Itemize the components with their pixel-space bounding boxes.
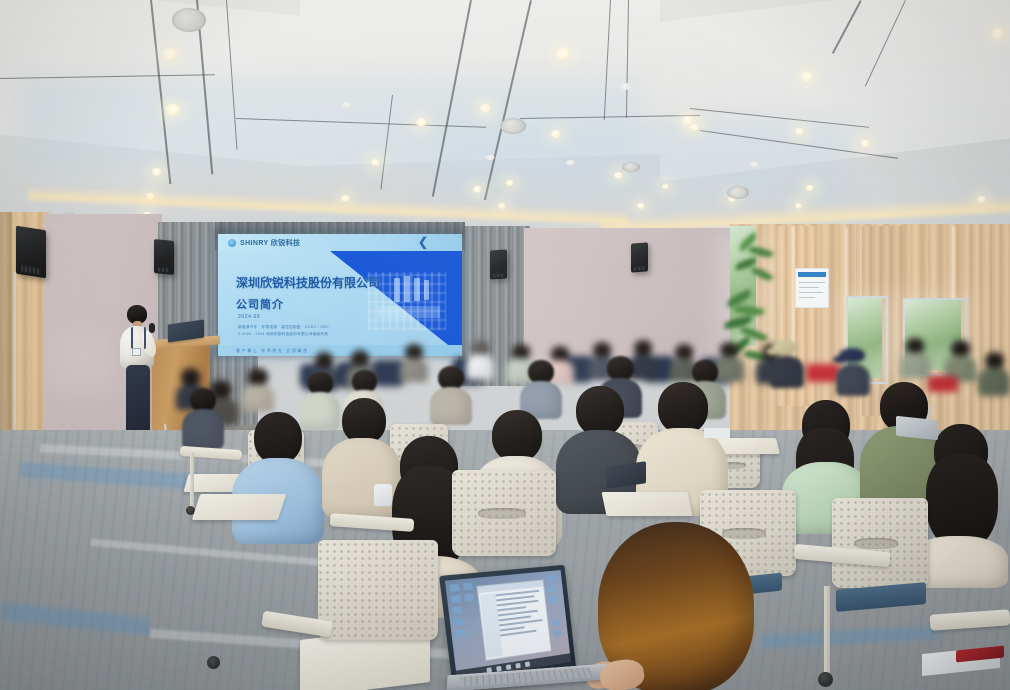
badge (132, 348, 141, 356)
slide-date: 2024.08 (238, 314, 260, 320)
slide-logo-text: SHINRY 欣锐科技 (240, 238, 300, 248)
ceiling-downlight (551, 130, 561, 138)
ceiling-downlight (163, 48, 178, 60)
ceiling-downlight (620, 83, 631, 90)
conference-room-photo: SHINRY 欣锐科技 ❮ 深圳欣锐科技股份有限公司 公司简介 2024.08 … (0, 0, 1010, 690)
ceiling-downlight (371, 159, 380, 166)
chair-back (318, 540, 438, 640)
slide-fine-line-2: © 2003 - 2024 深圳欣锐科技股份有限公司版权所有 (238, 332, 328, 337)
chair-caster (818, 672, 833, 687)
plant-upper-foliage (735, 236, 779, 292)
ceiling-downlight (152, 168, 162, 176)
chair-writing-tablet (192, 494, 286, 520)
chair-writing-tablet (601, 492, 692, 516)
slide-footer-text: 客户尊上 技术领先 品质精良 (236, 348, 309, 354)
wall-speaker (16, 226, 46, 279)
ceiling-downlight (473, 186, 482, 193)
attendee-laptop (896, 416, 938, 440)
ceiling-downlight (991, 28, 1005, 40)
ceiling-downlight (637, 203, 645, 209)
ceiling-downlight (416, 118, 427, 127)
slide-title: 深圳欣锐科技股份有限公司 (236, 274, 380, 291)
ceiling-downlight (556, 48, 570, 60)
chevron-left-icon: ❮ (418, 235, 428, 249)
ceiling-downlight (566, 160, 575, 165)
ceiling-downlight (342, 102, 352, 108)
ceiling-speaker-icon (172, 8, 206, 32)
ceiling-speaker-icon (727, 186, 749, 199)
attendee-head (254, 412, 302, 464)
attendee-blue-shirt (232, 412, 324, 542)
wall-speaker (154, 239, 174, 275)
microphone-icon (149, 323, 155, 333)
presenter (118, 305, 160, 445)
ceiling-downlight (801, 72, 813, 82)
wall-poster (795, 268, 829, 308)
ceiling-speaker-icon (622, 162, 640, 172)
ceiling-downlight (795, 128, 804, 135)
ceiling-downlight (806, 185, 814, 191)
slide-subtitle: 公司简介 (236, 296, 284, 312)
slide-fine-line-1: 新能源汽车 · 车载电源 · 高压控制盒 · DCDC / OBC (238, 325, 329, 330)
ceiling-downlight (480, 104, 491, 113)
projection-screen: SHINRY 欣锐科技 ❮ 深圳欣锐科技股份有限公司 公司简介 2024.08 … (218, 234, 462, 356)
laptop-document-window[interactable] (477, 579, 552, 661)
chair-caster (207, 656, 220, 669)
attendee-beige-cap (770, 340, 804, 388)
ceiling-downlight (750, 162, 759, 167)
ceiling-downlight (861, 140, 870, 147)
ceiling-downlight (614, 172, 623, 179)
ceiling-speaker-icon (500, 118, 526, 134)
lanyard (131, 327, 146, 349)
laptop-screen[interactable] (445, 570, 571, 680)
water-bottle (374, 484, 392, 506)
wall-speaker (631, 242, 648, 272)
wall-speaker (490, 250, 507, 280)
ceiling (0, 0, 1010, 232)
ceiling-downlight (506, 180, 514, 186)
slide-logo-icon (228, 239, 236, 247)
ceiling-downlight (662, 184, 669, 189)
ceiling-downlight (690, 124, 699, 131)
ceiling-downlight (486, 155, 495, 160)
notebook (704, 428, 730, 438)
attendee (182, 388, 224, 448)
ceiling-downlight (165, 104, 181, 116)
attendee (430, 366, 472, 424)
presenter-trousers (126, 365, 150, 435)
